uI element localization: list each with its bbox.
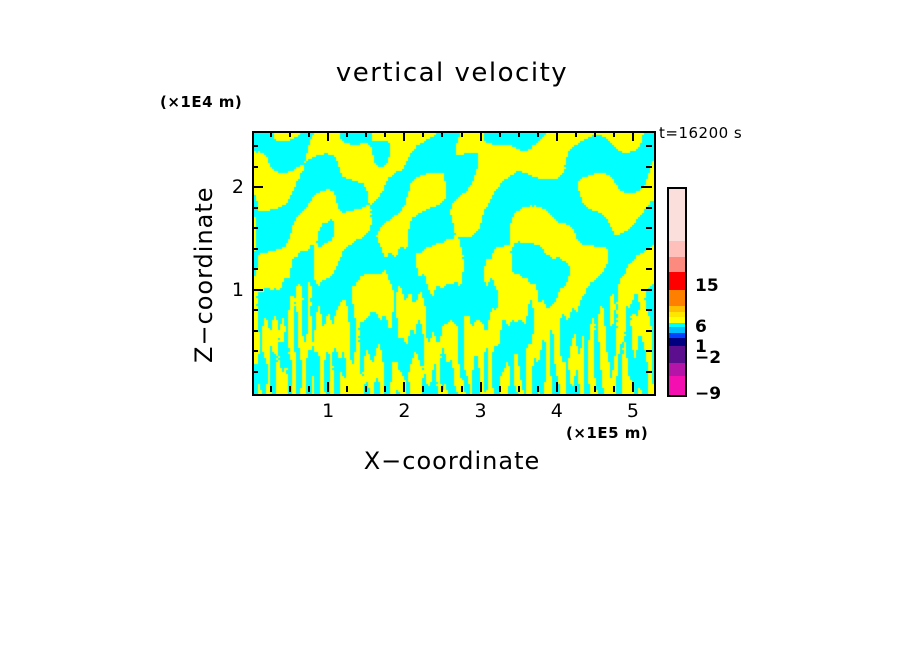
y-axis-tick [252, 207, 258, 209]
x-axis-tick [365, 131, 367, 137]
y-axis-tick [641, 186, 652, 188]
y-axis-tick [646, 309, 652, 311]
contour-field-canvas [254, 133, 654, 394]
x-axis-tick [575, 386, 577, 392]
x-axis-tick [537, 386, 539, 392]
x-axis-tick [480, 131, 482, 141]
x-axis-tick-label: 3 [475, 400, 487, 422]
colorbar-tick-label: 15 [695, 276, 719, 296]
x-axis-tick [346, 386, 348, 392]
x-axis-tick [575, 131, 577, 137]
x-axis-tick [556, 131, 558, 141]
x-axis-tick [461, 386, 463, 392]
x-axis-tick [422, 131, 424, 137]
time-annotation: t=16200 s [659, 124, 742, 142]
colorbar-band [669, 290, 685, 306]
x-axis-tick [632, 382, 634, 392]
y-axis-tick [252, 186, 263, 188]
y-axis-tick [252, 371, 258, 373]
colorbar-band [669, 338, 685, 346]
x-axis-tick [461, 131, 463, 137]
y-axis-unit-label: (×1E4 m) [160, 93, 242, 111]
y-axis-tick [252, 268, 258, 270]
y-axis-tick [646, 166, 652, 168]
x-axis-tick [270, 386, 272, 392]
y-axis-tick [646, 227, 652, 229]
y-axis-tick [252, 330, 258, 332]
y-axis-tick [252, 289, 263, 291]
contour-plot-area [252, 131, 656, 396]
colorbar-band [669, 272, 685, 291]
x-axis-tick [613, 131, 615, 137]
x-axis-tick [289, 386, 291, 392]
x-axis-tick [308, 386, 310, 392]
x-axis-tick [346, 131, 348, 137]
x-axis-tick [613, 386, 615, 392]
x-axis-tick-label: 1 [322, 400, 334, 422]
colorbar-tick-label: −9 [695, 384, 721, 404]
x-axis-title: X−coordinate [252, 447, 652, 475]
x-axis-tick [537, 131, 539, 137]
y-axis-tick [252, 227, 258, 229]
colorbar-tick-label: 6 [695, 317, 707, 337]
y-axis-title: Z−coordinate [190, 160, 218, 390]
x-axis-tick [308, 131, 310, 137]
y-axis-tick-label: 2 [220, 176, 244, 198]
colorbar-tick-label: −2 [695, 348, 721, 368]
x-axis-tick [594, 131, 596, 137]
figure-root: vertical velocity (×1E4 m) t=16200 s Z−c… [0, 0, 904, 654]
colorbar-band [669, 241, 685, 256]
x-axis-tick [327, 382, 329, 392]
x-axis-tick [384, 131, 386, 137]
y-axis-tick [252, 309, 258, 311]
x-axis-tick-label: 4 [551, 400, 563, 422]
x-axis-tick-label: 5 [627, 400, 639, 422]
x-axis-tick [270, 131, 272, 137]
x-axis-tick [422, 386, 424, 392]
colorbar-band [669, 346, 685, 363]
y-axis-tick [641, 289, 652, 291]
y-axis-tick [646, 145, 652, 147]
x-axis-tick [518, 131, 520, 137]
y-axis-tick [646, 371, 652, 373]
x-axis-tick [441, 386, 443, 392]
colorbar [667, 187, 687, 397]
y-axis-tick [646, 350, 652, 352]
x-axis-tick [632, 131, 634, 141]
x-axis-tick [403, 131, 405, 141]
y-axis-tick [646, 268, 652, 270]
x-axis-tick [518, 386, 520, 392]
x-axis-tick [499, 386, 501, 392]
y-axis-tick [252, 166, 258, 168]
x-axis-tick [289, 131, 291, 137]
colorbar-band [669, 257, 685, 272]
x-axis-tick [384, 386, 386, 392]
x-axis-tick [499, 131, 501, 137]
y-axis-tick-label: 1 [220, 279, 244, 301]
x-axis-tick [556, 382, 558, 392]
x-axis-tick [403, 382, 405, 392]
x-axis-tick [594, 386, 596, 392]
y-axis-tick [646, 248, 652, 250]
x-axis-tick-label: 2 [398, 400, 410, 422]
page-title: vertical velocity [0, 58, 904, 88]
colorbar-band [669, 189, 685, 241]
y-axis-tick [252, 248, 258, 250]
x-axis-tick [365, 386, 367, 392]
x-axis-tick [441, 131, 443, 137]
x-axis-tick [327, 131, 329, 141]
y-axis-tick [252, 350, 258, 352]
y-axis-tick [646, 330, 652, 332]
colorbar-band [669, 376, 685, 395]
colorbar-band [669, 363, 685, 377]
x-axis-unit-label: (×1E5 m) [566, 424, 648, 442]
y-axis-tick [252, 145, 258, 147]
x-axis-tick [480, 382, 482, 392]
y-axis-tick [646, 207, 652, 209]
